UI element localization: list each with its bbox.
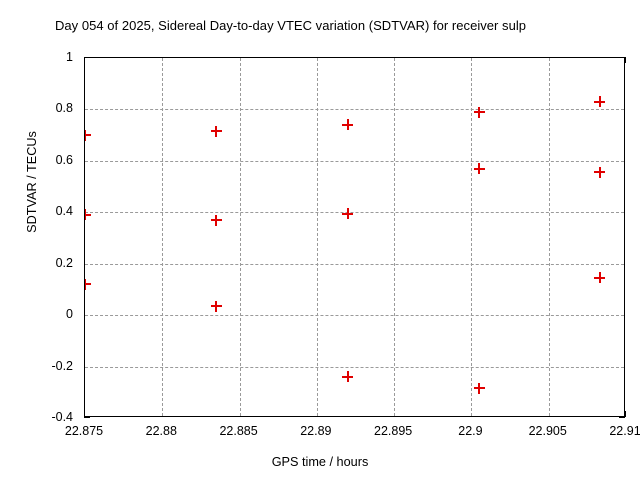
x-axis-tick-label: 22.875	[65, 424, 103, 438]
gridline-horizontal	[85, 367, 624, 368]
x-axis-tick-label: 22.89	[300, 424, 331, 438]
gridline-vertical	[240, 58, 241, 416]
plot-area	[84, 57, 625, 417]
gridline-horizontal	[85, 109, 624, 110]
gridline-horizontal	[85, 315, 624, 316]
y-axis-tick-right	[619, 417, 625, 418]
y-axis-title: SDTVAR / TECUs	[25, 62, 39, 302]
x-axis-tick-label: 22.88	[146, 424, 177, 438]
y-axis-tick-label: -0.2	[51, 359, 73, 373]
data-point-marker	[342, 119, 353, 130]
y-axis-tick-label: 0.4	[56, 204, 73, 218]
gridline-horizontal	[85, 212, 624, 213]
data-point-marker	[474, 163, 485, 174]
y-axis-tick-label: -0.4	[51, 410, 73, 424]
gridline-vertical	[162, 58, 163, 416]
gridline-vertical	[549, 58, 550, 416]
x-axis-title: GPS time / hours	[0, 455, 640, 469]
data-point-marker	[84, 130, 91, 141]
y-axis-tick-label: 1	[66, 50, 73, 64]
data-point-marker	[211, 215, 222, 226]
data-point-marker	[474, 383, 485, 394]
data-point-marker	[342, 208, 353, 219]
gridline-horizontal	[85, 161, 624, 162]
chart-figure: Day 054 of 2025, Sidereal Day-to-day VTE…	[0, 0, 640, 480]
x-axis-tick	[625, 411, 626, 417]
x-axis-tick-label: 22.9	[458, 424, 482, 438]
data-point-marker	[211, 126, 222, 137]
data-point-marker	[594, 167, 605, 178]
data-point-marker	[594, 272, 605, 283]
data-point-marker	[84, 279, 91, 290]
x-axis-tick-label: 22.91	[609, 424, 640, 438]
data-point-marker	[474, 107, 485, 118]
data-point-marker	[84, 209, 91, 220]
y-axis-tick-label: 0	[66, 307, 73, 321]
y-axis-tick-label: 0.8	[56, 101, 73, 115]
data-point-marker	[594, 96, 605, 107]
x-axis-tick-top	[625, 57, 626, 63]
gridline-vertical	[394, 58, 395, 416]
y-axis-tick-label: 0.2	[56, 256, 73, 270]
x-axis-tick-label: 22.885	[219, 424, 257, 438]
gridline-vertical	[471, 58, 472, 416]
y-axis-tick	[84, 417, 90, 418]
x-axis-tick-label: 22.895	[374, 424, 412, 438]
data-point-marker	[211, 301, 222, 312]
gridline-horizontal	[85, 264, 624, 265]
chart-title: Day 054 of 2025, Sidereal Day-to-day VTE…	[55, 18, 640, 33]
y-axis-tick-label: 0.6	[56, 153, 73, 167]
x-axis-tick-label: 22.905	[529, 424, 567, 438]
data-point-marker	[342, 371, 353, 382]
gridline-vertical	[317, 58, 318, 416]
